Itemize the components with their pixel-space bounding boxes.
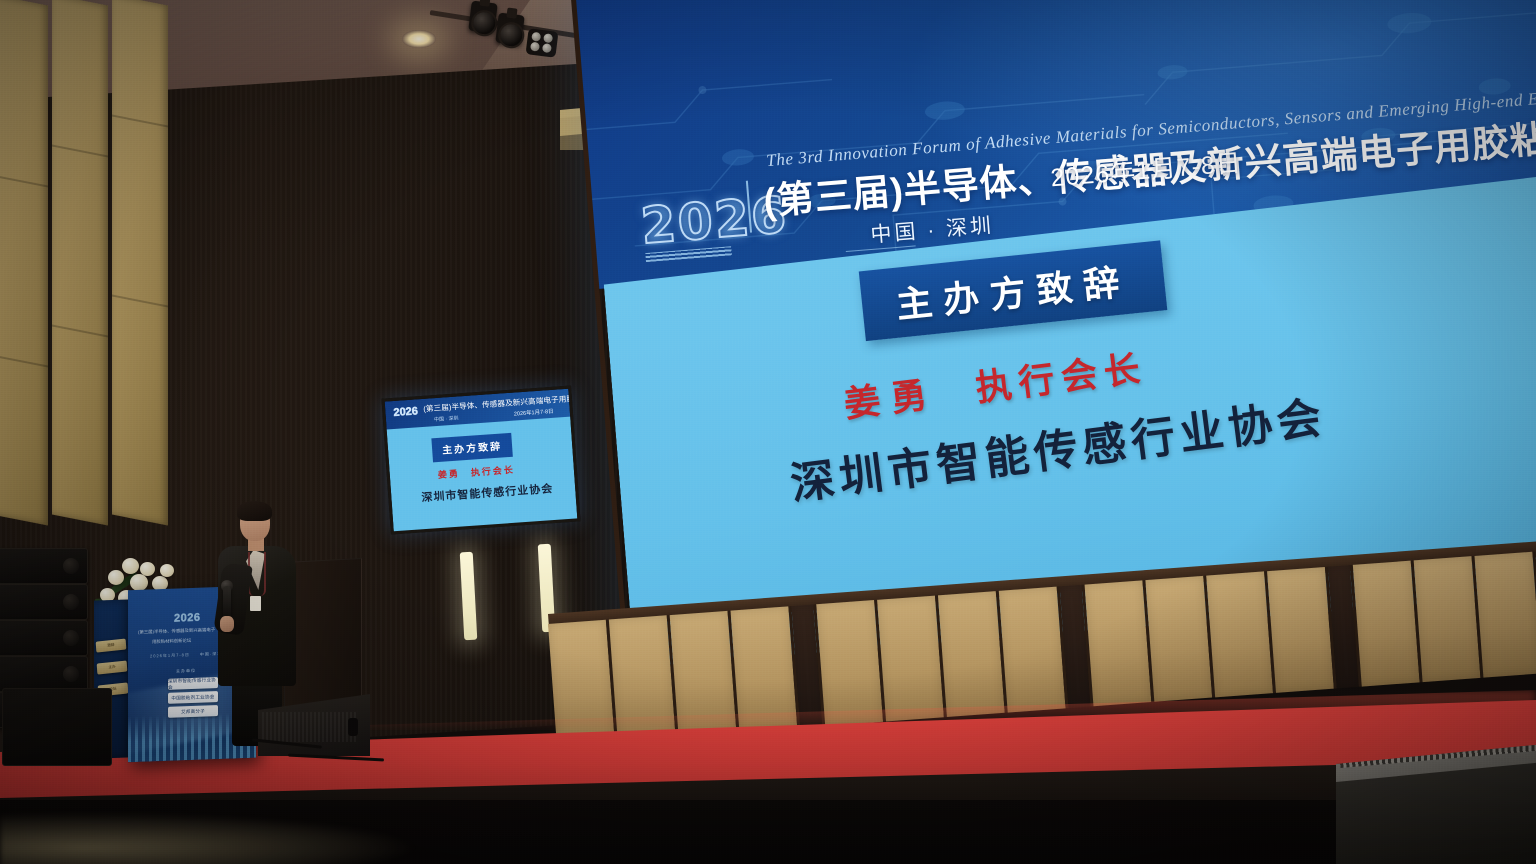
line-array-module: [0, 548, 88, 584]
person-hair: [237, 501, 272, 521]
spotlight-yoke: [506, 8, 517, 19]
side-monitor-title-box: 主办方致辞: [431, 433, 512, 463]
wall-panel: [938, 591, 1008, 717]
wall-panel: [816, 600, 886, 726]
side-monitor-year-logo: 2026: [393, 405, 418, 419]
side-monitor-speaker: 姜勇 执行会长: [437, 463, 515, 481]
line-array-module: [0, 584, 88, 620]
wall-panel: [1414, 556, 1484, 682]
side-monitor-location: 中国 · 深圳: [434, 414, 459, 423]
wall-panel: [1145, 576, 1215, 702]
monitor-handle: [348, 718, 358, 736]
side-monitor-date: 2026年1月7-8日: [514, 407, 554, 418]
slide-speaker-name: 姜勇: [842, 373, 940, 425]
conference-stage-photo: 2026 The 3rd Innovation Forum of Adhesiv…: [0, 0, 1536, 864]
side-monitor-organization: 深圳市智能传感行业协会: [421, 480, 554, 505]
wall-panel: [1475, 551, 1536, 677]
side-monitor-section-title: 主办方致辞: [442, 442, 503, 457]
wall-panel: [877, 595, 947, 721]
side-monitor-title: (第三届)半导体、传感器及新兴高端电子用胶粘材料创新论坛: [423, 390, 581, 415]
wall-panel: [1085, 580, 1155, 706]
ceiling-spotlight-icon: [495, 13, 524, 46]
ceiling-spotlight-icon: [468, 1, 497, 34]
side-confidence-monitor: 2026 (第三届)半导体、传感器及新兴高端电子用胶粘材料创新论坛 中国 · 深…: [381, 386, 580, 535]
ceiling-downlight-icon: [402, 30, 436, 48]
slide-section-title: 主办方致辞: [894, 261, 1132, 326]
podium-title-line1: (第三届)半导体、传感器及新兴高端电子: [138, 627, 215, 635]
ceiling-led-par-icon: [526, 28, 559, 57]
podium-plaque[interactable]: 致辞: [96, 639, 127, 653]
microphone-icon: [223, 586, 231, 620]
floor-light-pool: [0, 812, 420, 864]
gold-wall-panels: [0, 0, 300, 520]
line-array-module: [0, 656, 88, 692]
side-monitor-slide: 主办方致辞 姜勇 执行会长 深圳市智能传感行业协会: [387, 417, 578, 535]
monitor-grill: [262, 712, 358, 742]
podium-sponsor-label: 主办单位: [176, 668, 196, 675]
spotlight-yoke: [479, 0, 490, 7]
flower-bloom: [130, 574, 148, 591]
subwoofer-cabinet: [2, 688, 112, 766]
person-hand: [220, 616, 234, 632]
line-array-module: [0, 620, 88, 656]
podium-title-line2: 用胶粘材料创新论坛: [152, 638, 191, 645]
podium-plaque[interactable]: 主办: [97, 660, 128, 674]
podium-year-logo: 2026: [174, 612, 200, 625]
wall-panel: [1206, 571, 1276, 697]
person-name-badge: [250, 596, 261, 611]
wall-panel: [1267, 567, 1337, 693]
flower-bloom: [108, 570, 124, 585]
flower-bloom: [122, 558, 139, 574]
wall-panel: [999, 586, 1069, 712]
flower-bloom: [160, 564, 174, 577]
wall-panel: [1353, 560, 1423, 686]
